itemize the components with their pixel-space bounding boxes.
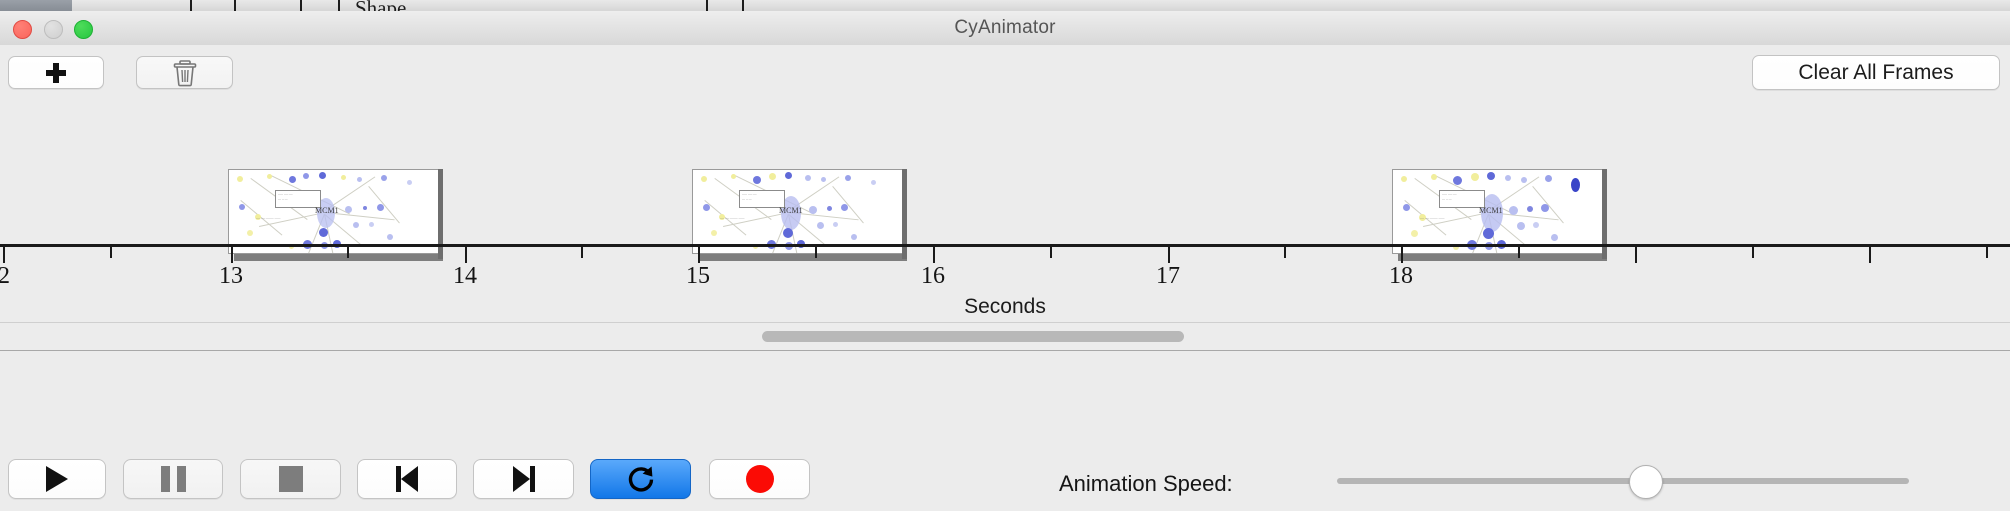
- horizontal-scrollbar-thumb[interactable]: [762, 331, 1184, 342]
- play-button[interactable]: [8, 459, 106, 499]
- axis-tick: [3, 247, 5, 263]
- animation-speed-label: Animation Speed:: [1059, 471, 1233, 497]
- skip-to-start-button[interactable]: [357, 459, 457, 499]
- animation-speed-slider-thumb[interactable]: [1629, 465, 1663, 499]
- axis-tick-minor: [110, 247, 112, 258]
- axis-tick-minor: [1284, 247, 1286, 258]
- trash-icon: [172, 59, 198, 87]
- loop-button[interactable]: [590, 459, 691, 499]
- axis-tick-minor: [1050, 247, 1052, 258]
- window-title: CyAnimator: [0, 11, 2010, 45]
- axis-tick-label: 16: [917, 263, 949, 290]
- axis-tick: [1635, 247, 1637, 263]
- clear-all-frames-button[interactable]: Clear All Frames: [1752, 55, 2000, 90]
- axis-tick-minor: [1518, 247, 1520, 258]
- axis-tick-minor: [815, 247, 817, 258]
- axis-tick-minor: [1986, 247, 1988, 258]
- frame-thumbnail: ----- ---- ---- --- -- --- ---- ---- ---…: [1392, 169, 1603, 254]
- pause-button[interactable]: [123, 459, 223, 499]
- frame-thumbnail: ----- ---- ---- --- -- --- ---- ---- ---…: [228, 169, 439, 254]
- timeline-axis: [0, 244, 2010, 247]
- cyanimator-window: Shape CyAnimator Clear All Frames: [0, 0, 2010, 510]
- timeline-panel[interactable]: ----- ---- ---- --- -- --- ---- ---- ---…: [0, 91, 2010, 321]
- axis-tick: [698, 247, 700, 263]
- loop-icon: [626, 464, 656, 494]
- axis-tick-minor: [1752, 247, 1754, 258]
- axis-tick-label: 17: [1152, 263, 1184, 290]
- axis-tick: [1869, 247, 1871, 263]
- axis-tick-label: 13: [215, 263, 247, 290]
- skip-back-icon: [396, 466, 418, 492]
- record-icon: [746, 465, 774, 493]
- clear-all-frames-label: Clear All Frames: [1798, 61, 1953, 85]
- axis-tick: [1168, 247, 1170, 263]
- frame-thumbnail: ----- ---- ---- --- -- --- ---- ---- ---…: [692, 169, 903, 254]
- stop-button[interactable]: [240, 459, 341, 499]
- frame-node-label: MCM1: [1479, 206, 1503, 215]
- title-bar: CyAnimator: [0, 11, 2010, 46]
- record-button[interactable]: [709, 459, 810, 499]
- plus-icon: [46, 63, 66, 83]
- axis-tick-minor: [581, 247, 583, 258]
- add-frame-button[interactable]: [8, 56, 104, 89]
- axis-tick: [933, 247, 935, 263]
- skip-to-end-button[interactable]: [473, 459, 574, 499]
- axis-tick-label: 14: [449, 263, 481, 290]
- frame-node-label: MCM1: [315, 206, 339, 215]
- axis-tick: [231, 247, 233, 263]
- axis-title: Seconds: [0, 295, 2010, 319]
- skip-forward-icon: [513, 466, 535, 492]
- animation-speed-slider-track[interactable]: [1337, 478, 1909, 484]
- delete-frame-button[interactable]: [136, 56, 233, 89]
- play-icon: [46, 466, 68, 492]
- axis-tick: [1401, 247, 1403, 263]
- pause-icon: [161, 466, 186, 492]
- stop-icon: [279, 466, 303, 492]
- axis-tick: [465, 247, 467, 263]
- axis-tick-label: 18: [1385, 263, 1417, 290]
- axis-tick-label: 15: [682, 263, 714, 290]
- toolbar: [0, 45, 2010, 92]
- axis-tick-minor: [347, 247, 349, 258]
- axis-tick-label: 2: [0, 263, 20, 290]
- frame-node-label: MCM1: [779, 206, 803, 215]
